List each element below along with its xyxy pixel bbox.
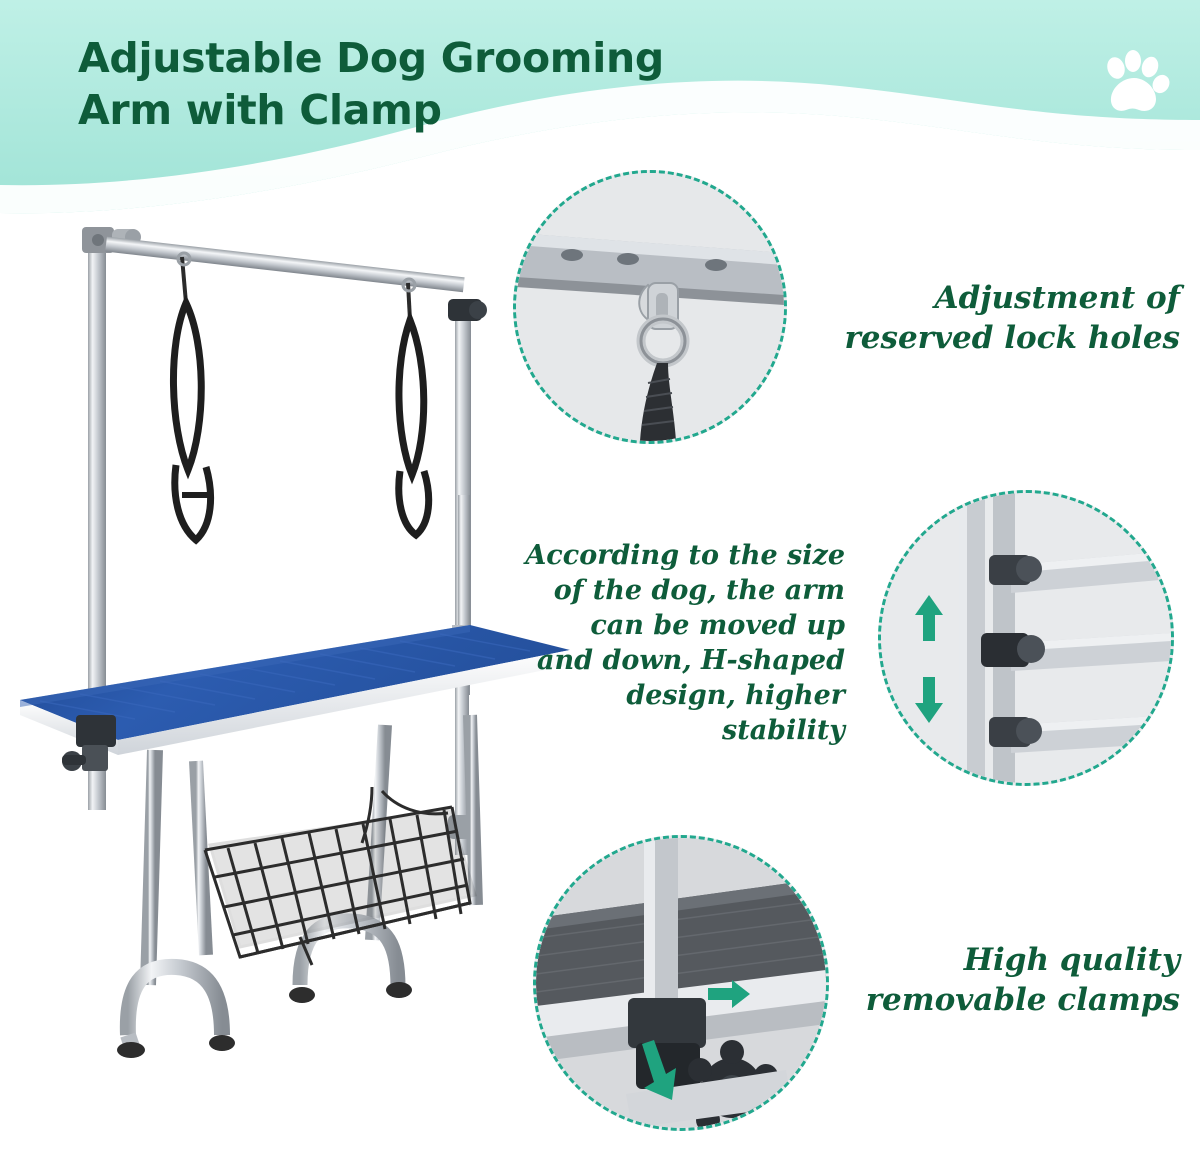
paw-print-icon xyxy=(1098,48,1172,122)
callout-arm-adjust-text: According to the size of the dog, the ar… xyxy=(455,538,845,749)
closeup-arm-height-adjust-photo xyxy=(878,490,1174,786)
page-title: Adjustable Dog Grooming Arm with Clamp xyxy=(78,32,778,137)
infographic-page: Adjustable Dog Grooming Arm with Clamp xyxy=(0,0,1200,1157)
callout-lock-holes-text: Adjustment of reserved lock holes xyxy=(600,278,1180,359)
callout-removable-clamps-text: High quality removable clamps xyxy=(700,940,1180,1021)
